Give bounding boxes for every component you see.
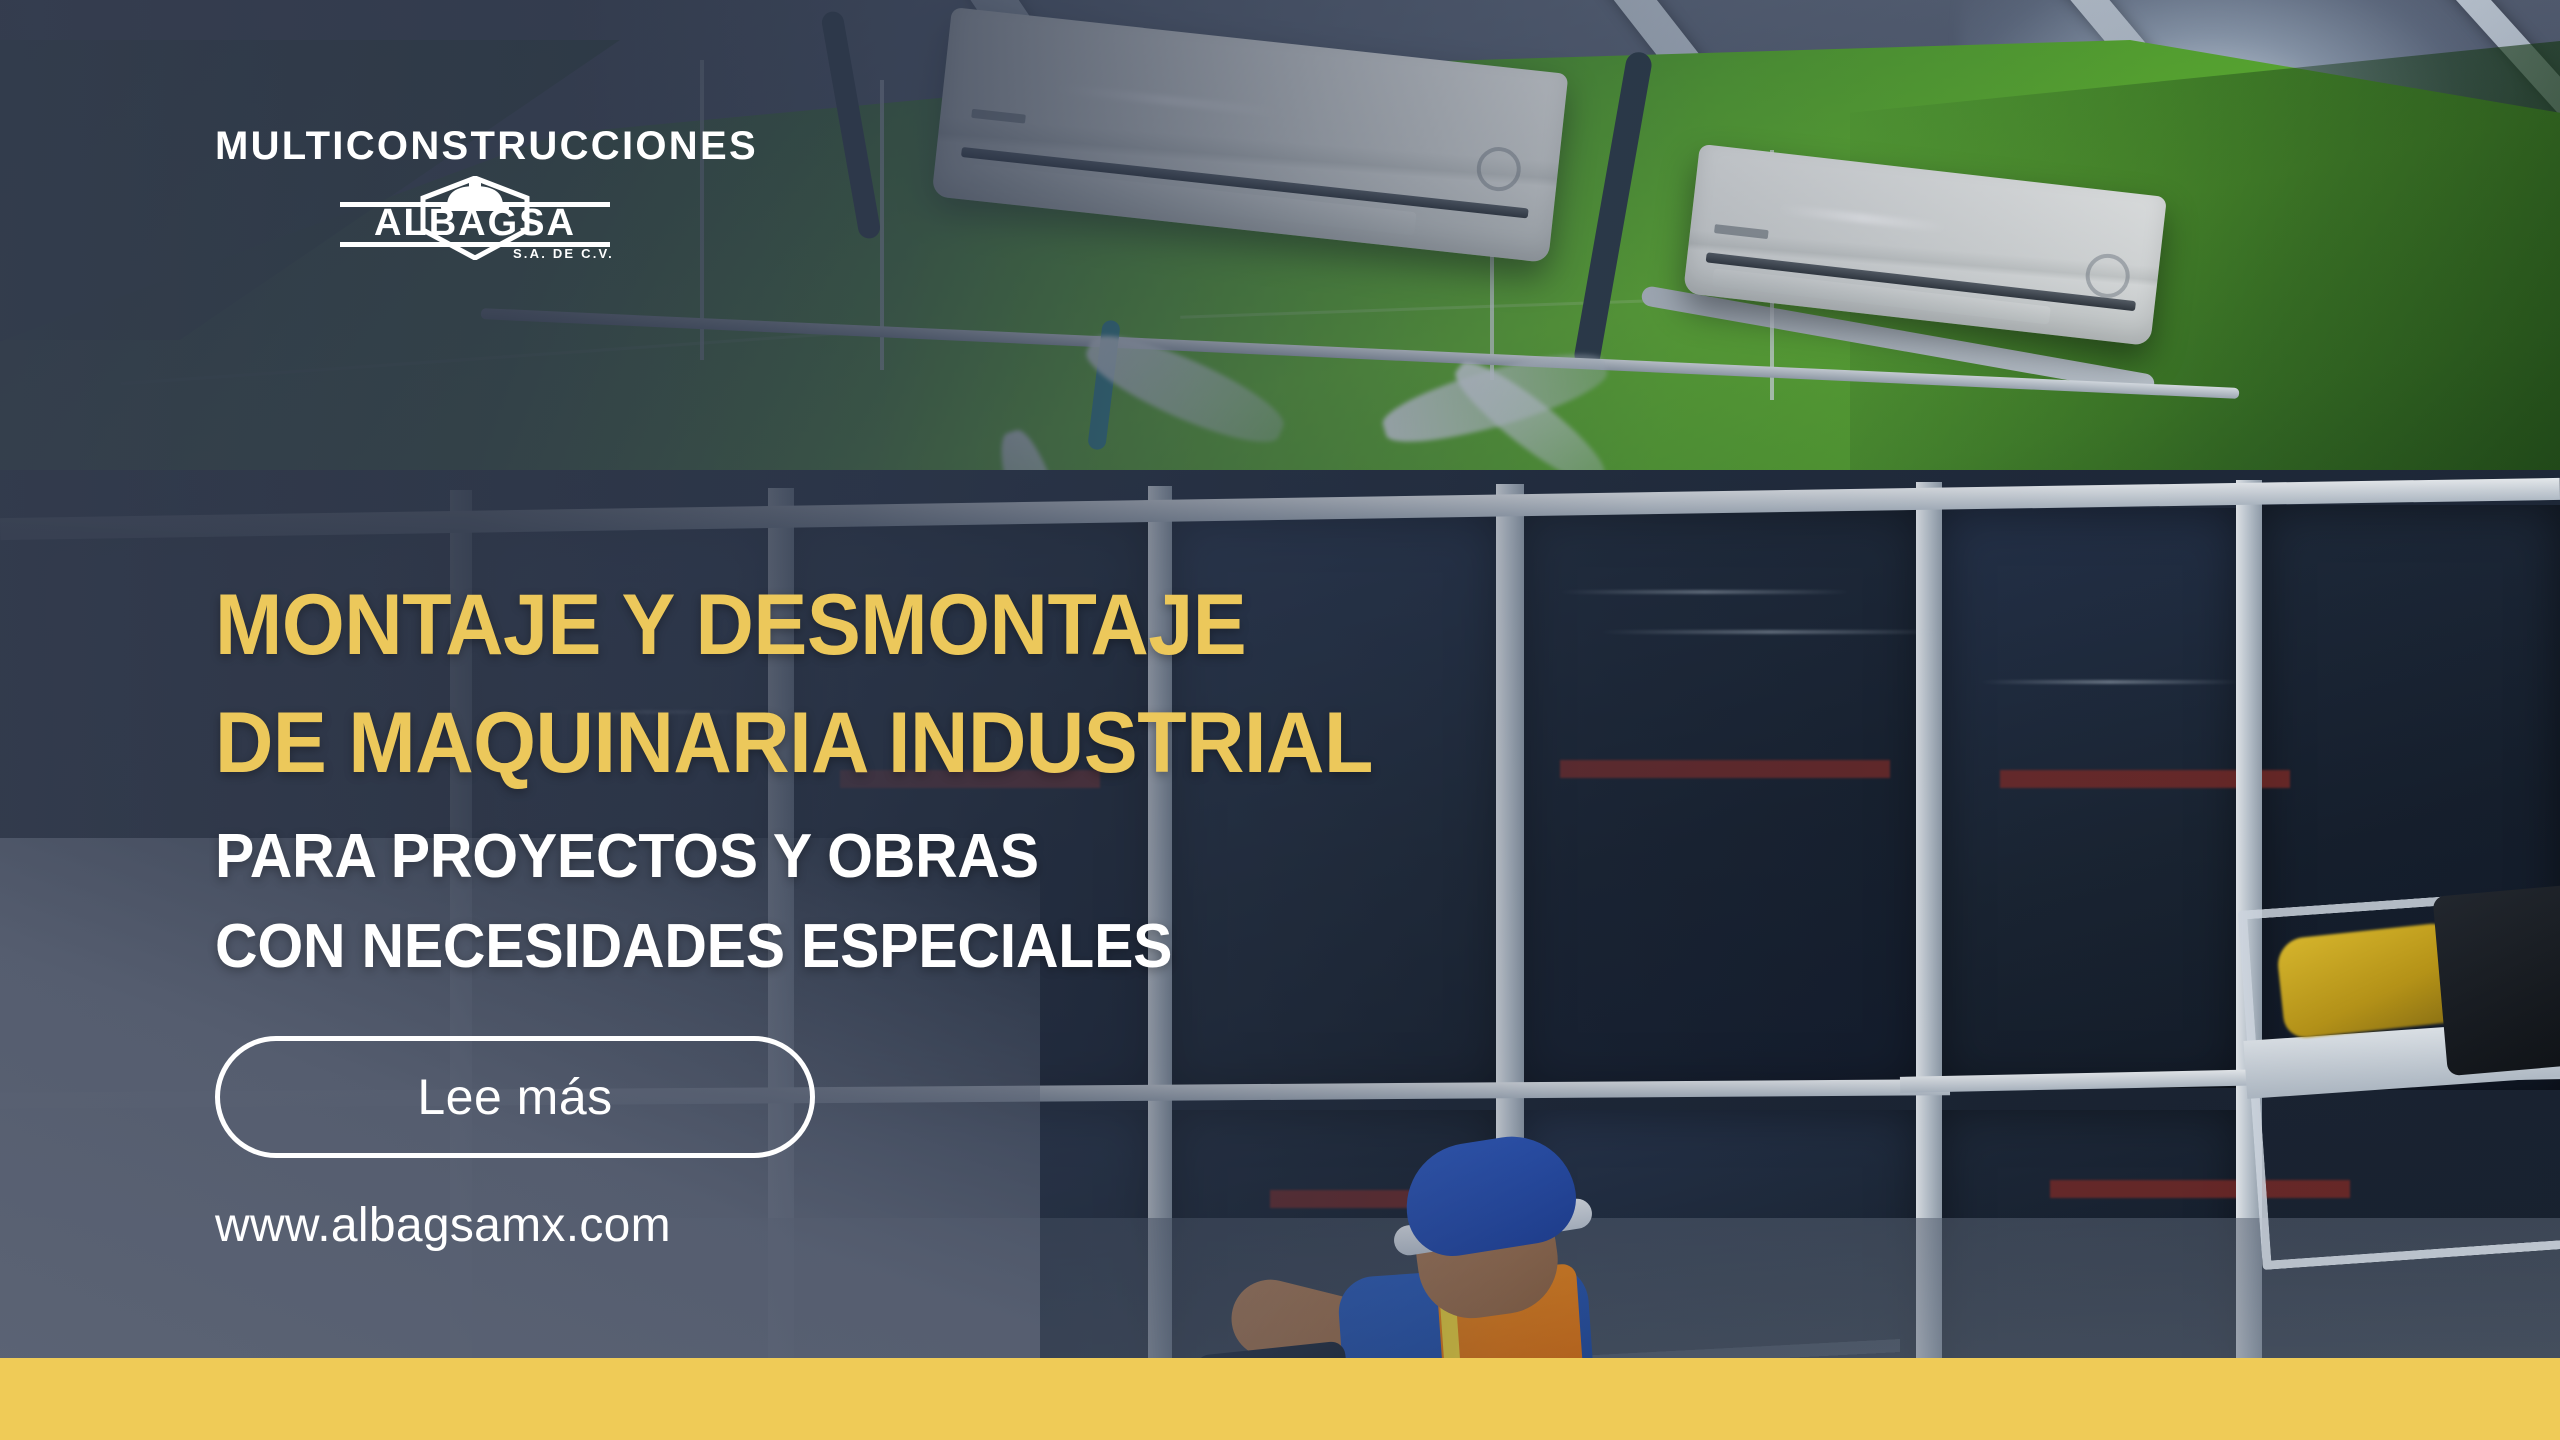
subheadline-line-2: CON NECESIDADES ESPECIALES — [215, 916, 1545, 978]
logo-entity-suffix: S.A. DE C.V. — [513, 246, 614, 261]
logo-name-text: ALBAGSA — [340, 204, 610, 242]
headline-line-1: MONTAJE Y DESMONTAJE — [215, 577, 1246, 673]
company-wordmark: MULTICONSTRUCCIONES — [215, 126, 735, 166]
albagsa-logo: ALBAGSA S.A. DE C.V. — [340, 176, 610, 262]
page-subtitle: PARA PROYECTOS Y OBRAS CON NECESIDADES E… — [215, 826, 1545, 978]
page-title: MONTAJE Y DESMONTAJE DE MAQUINARIA INDUS… — [215, 582, 1625, 786]
content-column: MULTICONSTRUCCIONES ALBAGSA S.A. DE C.V.… — [215, 0, 1915, 1358]
promotional-banner: MULTICONSTRUCCIONES ALBAGSA S.A. DE C.V.… — [0, 0, 2560, 1440]
website-url-link[interactable]: www.albagsamx.com — [215, 1198, 671, 1253]
subheadline-line-1: PARA PROYECTOS Y OBRAS — [215, 822, 1039, 891]
headline-line-2: DE MAQUINARIA INDUSTRIAL — [215, 700, 1625, 786]
read-more-button[interactable]: Lee más — [215, 1036, 815, 1158]
brand-lockup: MULTICONSTRUCCIONES ALBAGSA S.A. DE C.V. — [215, 126, 735, 262]
footer-accent-bar — [0, 1358, 2560, 1440]
